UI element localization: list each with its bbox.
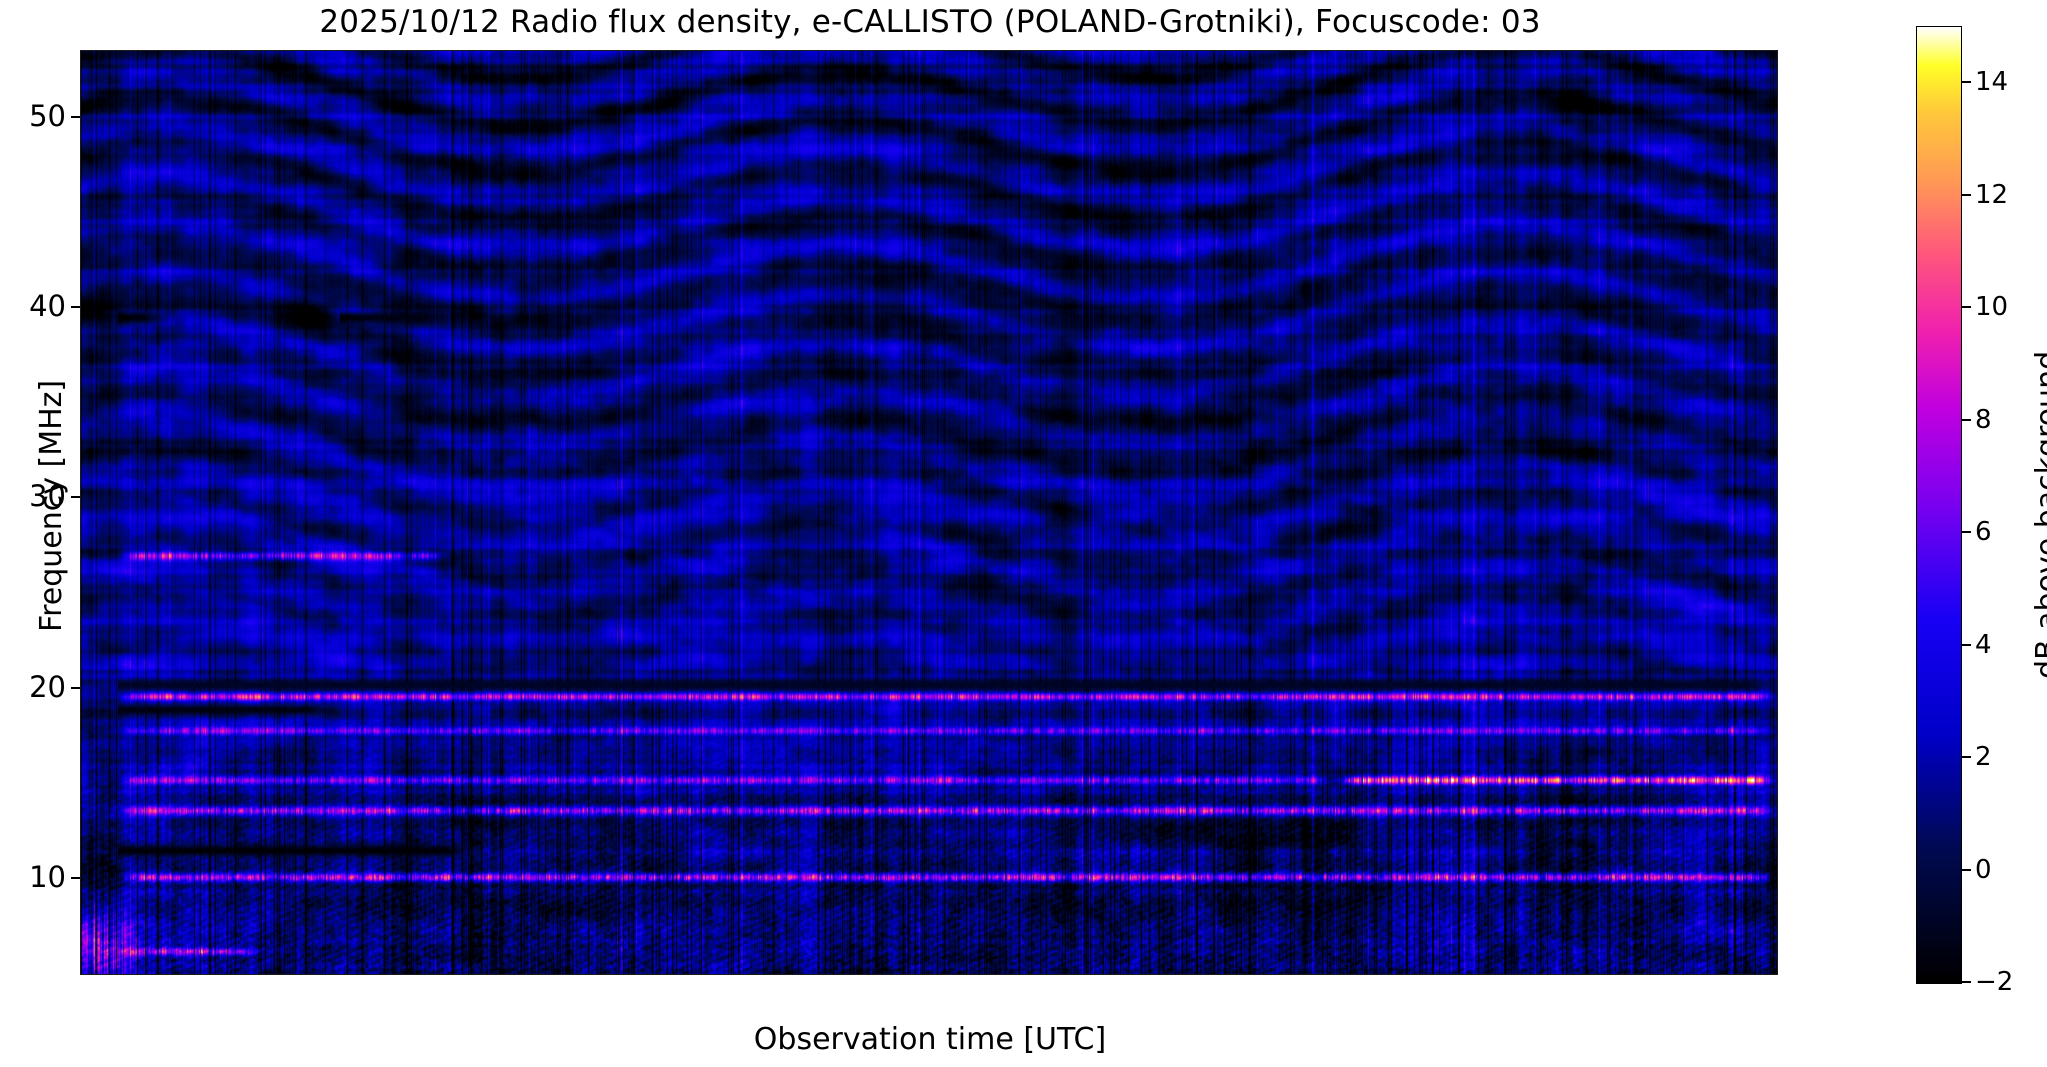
colorbar-tick-label: 12 — [1975, 182, 2008, 208]
y-axis-label: Frequency [MHz] — [34, 379, 69, 631]
x-axis-label: Observation time [UTC] — [0, 1022, 1860, 1057]
colorbar-tick-label: 0 — [1975, 857, 1992, 883]
colorbar-tick-label: −2 — [1975, 969, 2013, 995]
colorbar-tick-mark — [1962, 531, 1971, 533]
colorbar-tick-mark — [1962, 756, 1971, 758]
colorbar-tick-mark — [1962, 419, 1971, 421]
colorbar — [1916, 26, 1962, 984]
y-tick-label: 40 — [6, 292, 66, 321]
colorbar-gradient — [1917, 27, 1961, 983]
figure-title: 2025/10/12 Radio flux density, e-CALLIST… — [0, 4, 1860, 40]
colorbar-tick-label: 10 — [1975, 294, 2008, 320]
colorbar-tick-mark — [1962, 306, 1971, 308]
colorbar-tick-label: 8 — [1975, 407, 1992, 433]
y-tick-mark — [71, 116, 80, 118]
y-tick-mark — [71, 877, 80, 879]
colorbar-tick-mark — [1962, 644, 1971, 646]
y-tick-mark — [71, 306, 80, 308]
colorbar-tick-mark — [1962, 869, 1971, 871]
colorbar-label: dB above background — [2030, 351, 2047, 679]
y-tick-label: 20 — [6, 673, 66, 702]
colorbar-tick-label: 4 — [1975, 632, 1992, 658]
colorbar-tick-label: 14 — [1975, 69, 2008, 95]
y-tick-mark — [71, 496, 80, 498]
spectrogram-image — [81, 51, 1777, 974]
spectrogram-figure: 2025/10/12 Radio flux density, e-CALLIST… — [0, 0, 2047, 1067]
y-tick-label: 50 — [6, 102, 66, 131]
colorbar-tick-mark — [1962, 81, 1971, 83]
colorbar-tick-label: 6 — [1975, 519, 1992, 545]
spectrogram-plot-area — [80, 50, 1778, 975]
y-tick-mark — [71, 687, 80, 689]
colorbar-tick-label: 2 — [1975, 744, 1992, 770]
colorbar-tick-mark — [1962, 981, 1971, 983]
colorbar-tick-mark — [1962, 194, 1971, 196]
y-tick-label: 10 — [6, 863, 66, 892]
